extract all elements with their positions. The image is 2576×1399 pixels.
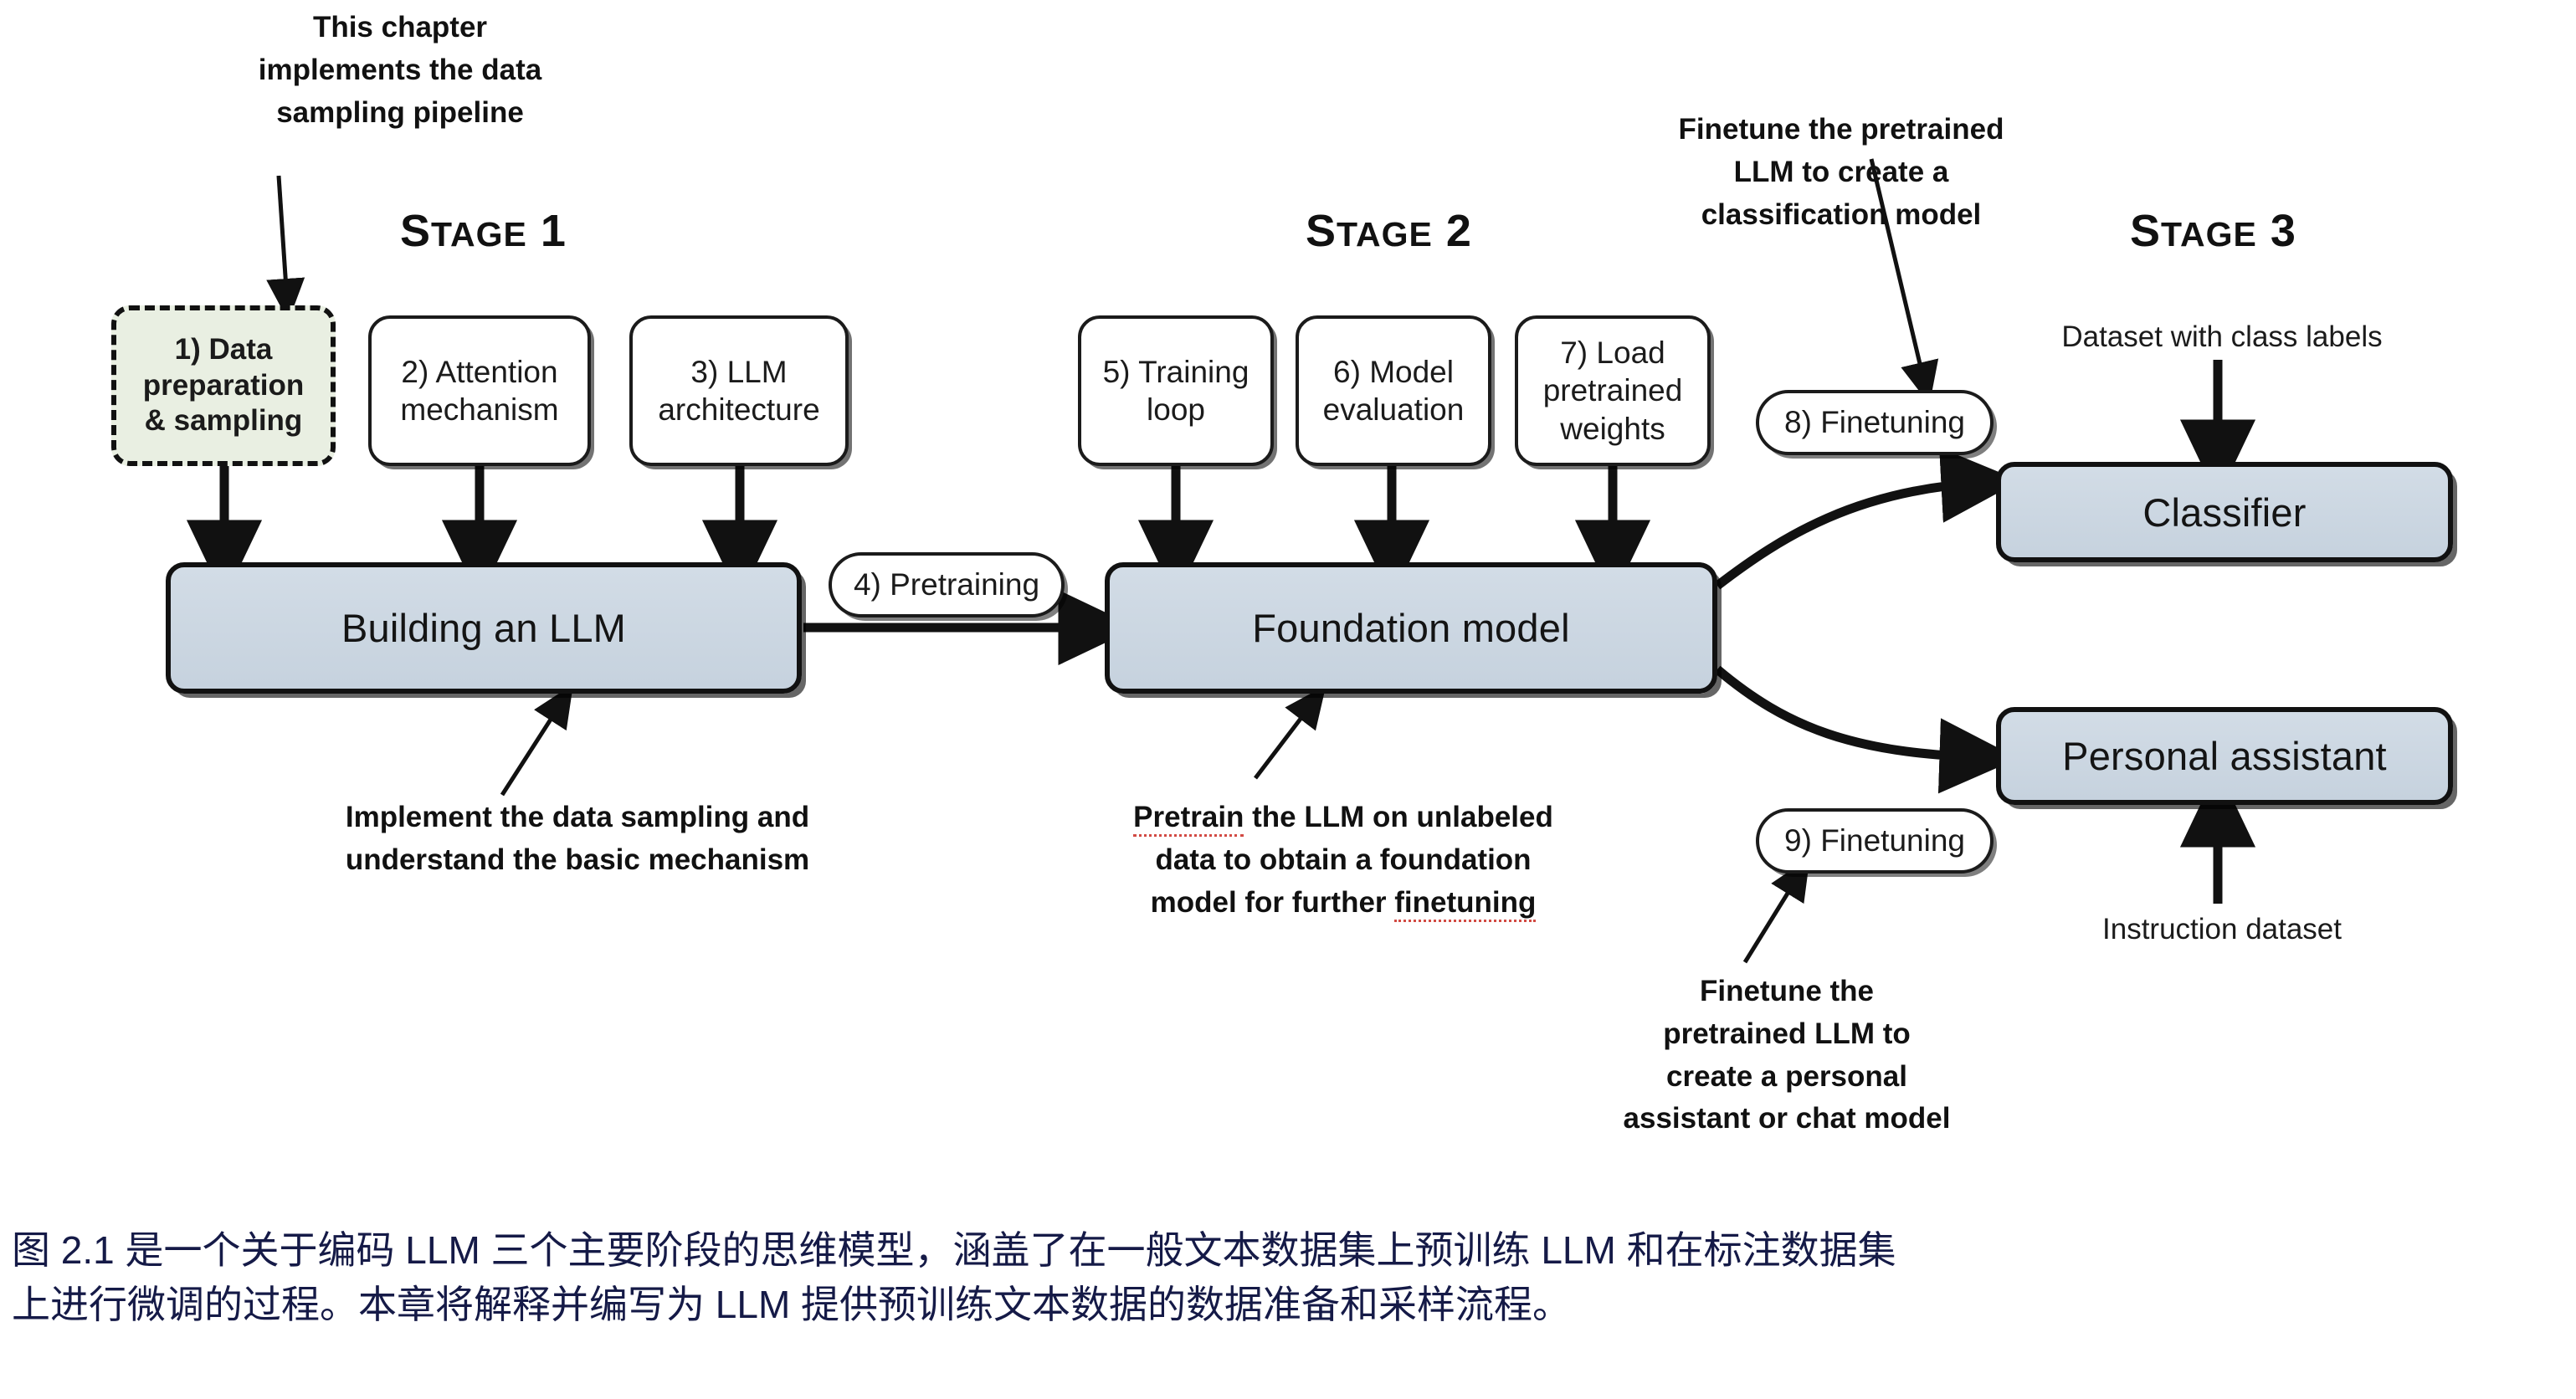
pretrain-line3-head: model for further [1151,886,1395,919]
stage-heading-3: STAGE 3 [2130,205,2296,257]
stage2-num-value: 2 [1446,206,1472,256]
stage2-rest: TAGE [1337,215,1433,254]
annotation-assistant-note: Finetune the pretrained LLM to create a … [1582,971,1992,1140]
figure-caption-paragraph: 图 2.1 是一个关于编码 LLM 三个主要阶段的思维模型，涵盖了在一般文本数据… [12,1223,2564,1333]
arrow-pretrain-note [1255,701,1314,778]
arrow-foundation-to-assistant [1717,669,1982,757]
outcome-box-personal-assistant[interactable]: Personal assistant [1996,707,2453,805]
caption-paragraph-line-2: 上进行微调的过程。本章将解释并编写为 LLM 提供预训练文本数据的数据准备和采样… [12,1278,2564,1332]
step-box-llm-architecture[interactable]: 3) LLM architecture [629,315,849,466]
figure-canvas: STAGE 1 STAGE 2 STAGE 3 1) Data preparat… [0,0,2576,1399]
pill-pretraining[interactable]: 4) Pretraining [829,552,1065,618]
caption-dataset-with-class-labels: Dataset with class labels [2034,318,2410,356]
arrow-chapter-note [279,176,287,301]
pretrain-note-line-2: data to obtain a foundation [1096,839,1590,882]
step-box-training-loop[interactable]: 5) Training loop [1078,315,1274,466]
stage3-prefix: S [2130,206,2161,256]
annotation-pretrain-note: Pretrain the LLM on unlabeled data to ob… [1096,797,1590,924]
step-box-load-pretrained-weights[interactable]: 7) Load pretrained weights [1515,315,1711,466]
caption-instruction-dataset: Instruction dataset [2055,910,2389,949]
annotation-chapter-note: This chapter implements the data samplin… [224,7,576,134]
outcome-box-building-llm[interactable]: Building an LLM [166,562,802,694]
annotation-classification-note: Finetune the pretrained LLM to create a … [1640,109,2042,236]
step-box-data-preparation[interactable]: 1) Data preparation & sampling [111,305,336,466]
step-box-attention-mechanism[interactable]: 2) Attention mechanism [368,315,591,466]
stage2-prefix: S [1306,206,1337,256]
pretrain-note-line-1: Pretrain the LLM on unlabeled [1096,797,1590,839]
stage1-num-value: 1 [541,206,567,256]
arrow-foundation-to-classifier [1717,483,1983,586]
finetuning-misspelled-word: finetuning [1394,886,1536,922]
stage3-space [2257,206,2271,256]
pretrain-note-line-3: model for further finetuning [1096,882,1590,925]
pill-finetuning-8[interactable]: 8) Finetuning [1756,390,1994,455]
stage1-rest: TAGE [431,215,527,254]
outcome-box-foundation-model[interactable]: Foundation model [1105,562,1717,694]
stage3-rest: TAGE [2161,215,2257,254]
stage-heading-2: STAGE 2 [1306,205,1472,257]
outcome-box-classifier[interactable]: Classifier [1996,462,2453,562]
pretrain-line1-rest: the LLM on unlabeled [1244,801,1552,833]
pretrain-misspelled-word: Pretrain [1133,801,1244,837]
arrow-implement-note [502,701,562,795]
step-box-model-evaluation[interactable]: 6) Model evaluation [1296,315,1491,466]
caption-paragraph-line-1: 图 2.1 是一个关于编码 LLM 三个主要阶段的思维模型，涵盖了在一般文本数据… [12,1223,2564,1278]
stage1-prefix: S [400,206,431,256]
pill-finetuning-9[interactable]: 9) Finetuning [1756,808,1994,874]
stage3-num-value: 3 [2271,206,2296,256]
annotation-implement-note: Implement the data sampling and understa… [310,797,845,882]
arrow-assistant-note [1745,874,1799,962]
stage2-space [1433,206,1446,256]
stage-heading-1: STAGE 1 [400,205,567,257]
stage1-number [527,206,541,256]
